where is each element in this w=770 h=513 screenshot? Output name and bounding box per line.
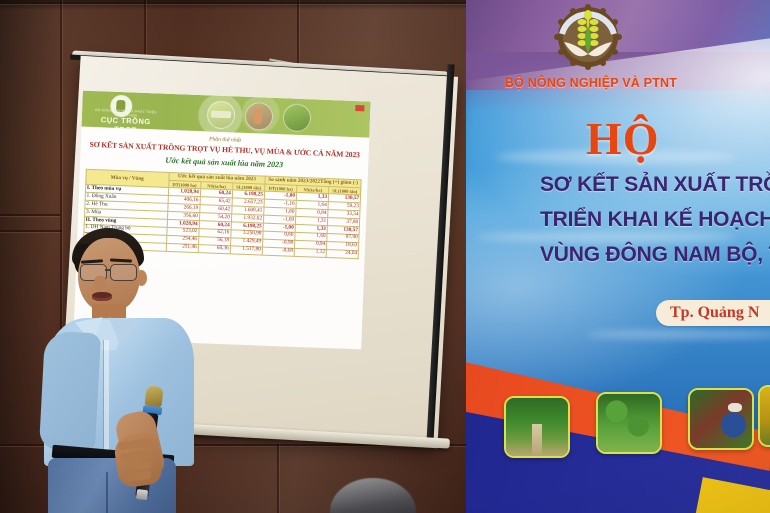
photo-field [758, 385, 770, 447]
table-cell-value: 60,36 [198, 244, 230, 253]
wall-seam [277, 444, 279, 513]
wall-panel-line [0, 2, 505, 4]
banner-place-label: Tp. Quảng N [670, 304, 759, 322]
vietnam-flag-icon [355, 105, 364, 111]
table-cell-value: 1,12 [294, 248, 326, 257]
table-cell-value: -0,68 [262, 247, 294, 256]
glasses-bridge [105, 269, 111, 271]
banner-line-1: SƠ KẾT SẢN XUẤT TRỒN [540, 173, 770, 197]
slide-header-photo-2 [244, 102, 273, 131]
photo-farmer-harvest [688, 388, 754, 450]
shirt-sleeve-left [39, 331, 101, 452]
wall-panel-line [0, 214, 60, 216]
presenter-glasses [80, 264, 142, 280]
banner-line-3: VÙNG ĐÔNG NAM BỘ, TÂY [540, 243, 770, 267]
presenter-hand [113, 431, 164, 489]
banner-streak [586, 330, 770, 339]
banner-place-pill: Tp. Quảng N [656, 300, 770, 326]
jeans-seam [106, 472, 108, 513]
microphone-head [144, 385, 163, 407]
banner-line-2: TRIỂN KHAI KẾ HOẠCH S [540, 208, 770, 232]
banner-headline: HỘ [586, 112, 660, 165]
microphone-tip [136, 489, 148, 500]
event-backdrop-banner: BỘ NÔNG NGHIỆP VÀ PTNT HỘ SƠ KẾT SẢN XUẤ… [466, 0, 770, 513]
presenter-nose [94, 276, 106, 290]
ministry-agriculture-logo [552, 4, 624, 70]
photo-tree-plantation [596, 392, 662, 454]
table-cell-value: 1.517,80 [230, 246, 262, 255]
ministry-title: BỘ NÔNG NGHIỆP VÀ PTNT [466, 76, 716, 90]
glasses-lens-right [110, 264, 137, 281]
slide-dept-sub: BỘ NÔNG NGHIỆP VÀ PHÁT TRIỂN NÔNG THÔN [90, 108, 162, 119]
slide-dept-logo-icon [110, 95, 133, 118]
banner-streak [476, 232, 736, 242]
finger [125, 470, 152, 482]
photo-eucalyptus-road [504, 396, 570, 458]
presenter [44, 228, 194, 513]
photo-scene: BỘ NÔNG NGHIỆP VÀ PTNT HỘ SƠ KẾT SẢN XUẤ… [0, 0, 770, 513]
presenter-mouth [92, 292, 112, 301]
slide-header-photo-1 [207, 100, 236, 129]
shirt-placket [104, 340, 109, 458]
table-cell-value: 24,04 [326, 249, 358, 258]
slide-header-photo-3 [282, 103, 311, 132]
